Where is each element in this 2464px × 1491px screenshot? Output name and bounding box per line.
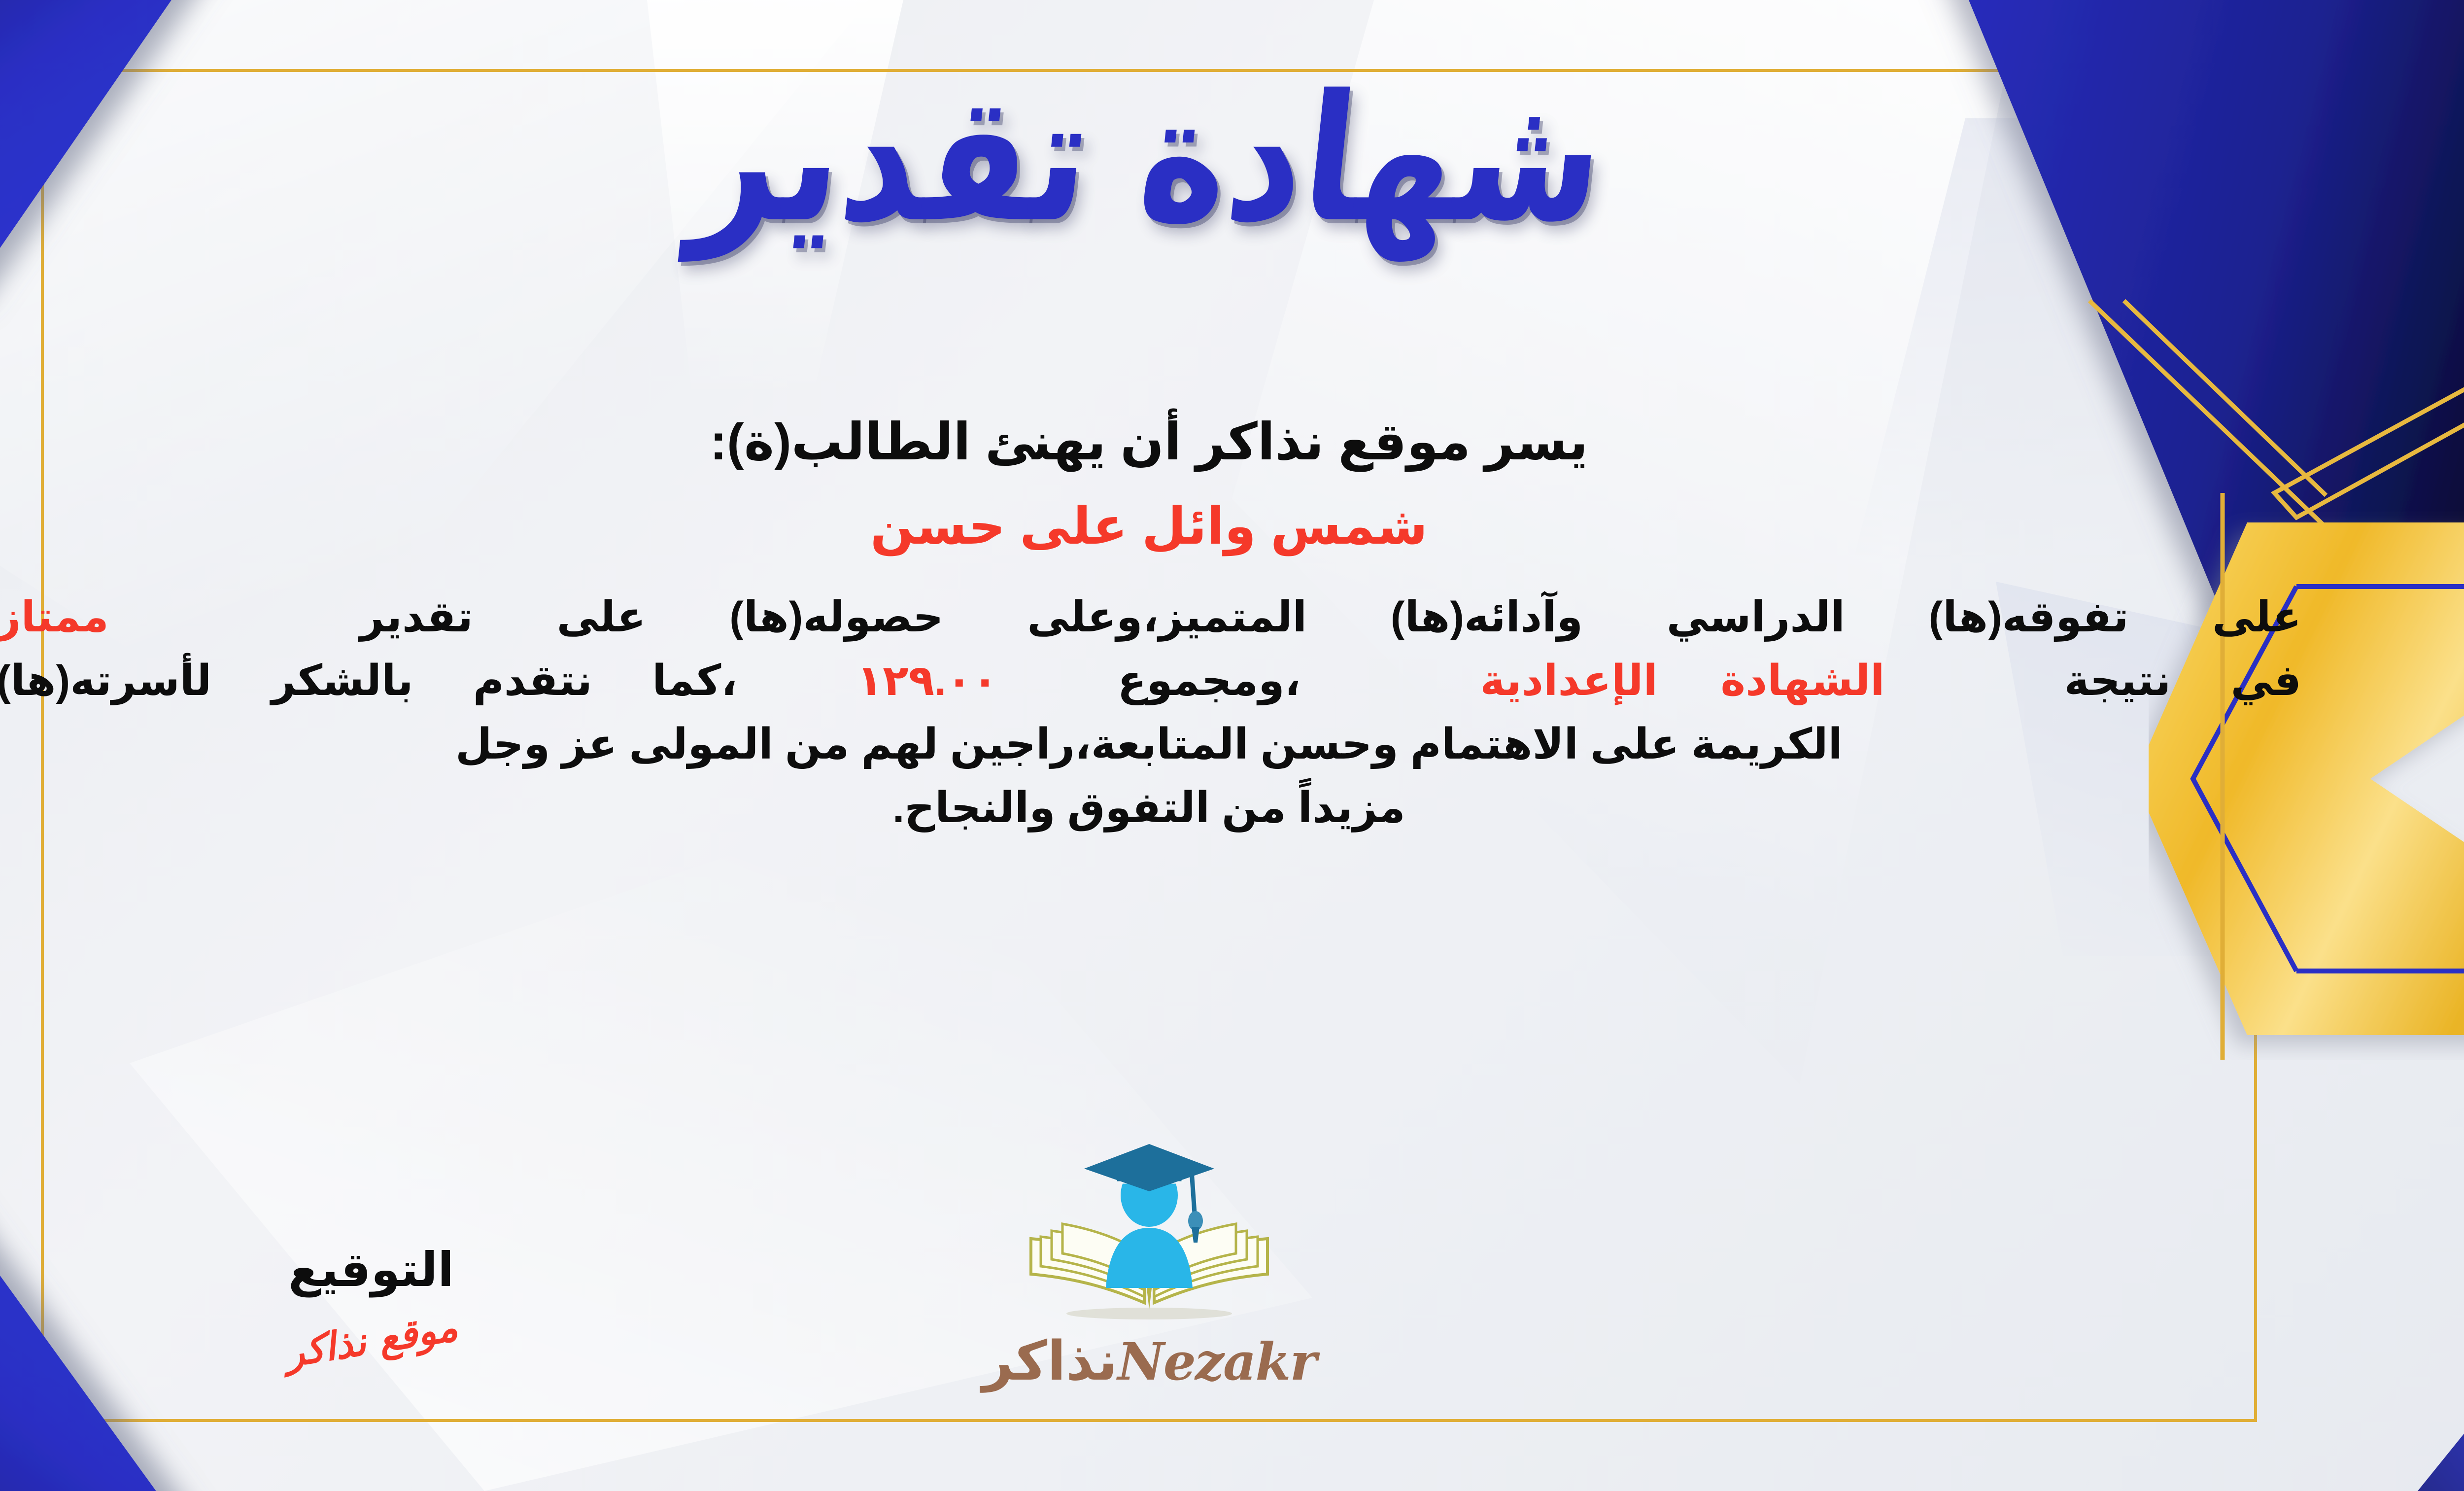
gold-frame-bottom-line: [41, 1419, 2257, 1422]
citation-line-1: على تفوقه(ها) الدراسي وآدائه(ها) المتميز…: [0, 586, 2301, 649]
graduate-on-open-book-icon: [1011, 1140, 1287, 1327]
logo-wordmark-latin: Nezakr: [1118, 1331, 1316, 1392]
grade-value: ممتاز: [0, 592, 109, 642]
citation-paragraph: على تفوقه(ها) الدراسي وآدائه(ها) المتميز…: [0, 586, 2301, 840]
citation-line-2-prefix: في نتيجة: [2064, 657, 2301, 704]
page-title: شهادة تقدير: [684, 59, 1613, 259]
citation-line-2: في نتيجة الشهادة الإعدادية ،ومجموع ١٢٩.٠…: [0, 649, 2301, 713]
citation-line-2-suffix: ،كما نتقدم بالشكر لأسرته(ها): [0, 657, 737, 704]
citation-line-3: الكريمة على الاهتمام وحسن المتابعة،راجين…: [0, 713, 2301, 776]
citation-line-1-text: على تفوقه(ها) الدراسي وآدائه(ها) المتميز…: [360, 593, 2301, 641]
citation-line-2-mid: ،ومجموع: [1118, 657, 1301, 704]
brand-logo: Nezakrنذاكر: [962, 1140, 1336, 1392]
logo-wordmark: Nezakrنذاكر: [962, 1329, 1336, 1392]
citation-line-4: مزيداً من التفوق والنجاح.: [0, 776, 2301, 840]
certificate-body: يسر موقع نذاكر أن يهنئ الطالب(ة): شمس وا…: [0, 409, 2301, 840]
signature-block: التوقيع موقع نذاكر: [218, 1242, 524, 1363]
total-score: ١٢٩.٠٠: [857, 657, 998, 704]
exam-name: الشهادة الإعدادية: [1480, 656, 1884, 705]
certificate-page: شهادة تقدير يسر موقع نذاكر أن يهنئ الطال…: [0, 0, 2464, 1491]
certificate-title-wrap: شهادة تقدير: [0, 74, 2464, 244]
greeting-line: يسر موقع نذاكر أن يهنئ الطالب(ة):: [0, 409, 2301, 476]
student-name: شمس وائل على حسن: [0, 493, 2301, 560]
logo-wordmark-arabic: نذاكر: [982, 1329, 1118, 1392]
signature-label: التوقيع: [218, 1242, 524, 1297]
